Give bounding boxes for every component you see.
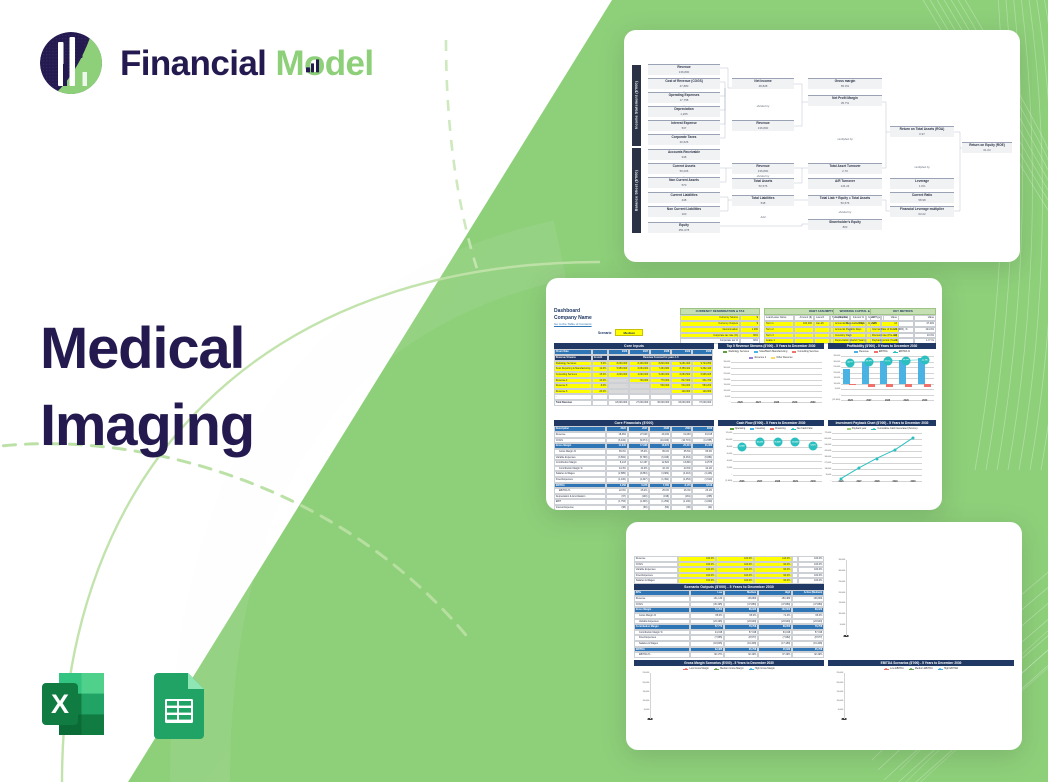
y-axis-tick-label: 10,000 (839, 613, 847, 615)
slide-canvas: Financial Model Medical Imaging X (0, 0, 1048, 782)
x-axis-tick-label: 2030 (843, 636, 848, 638)
y-axis-tick-label: 30,000 (839, 570, 847, 572)
brand-wordmark: Financial Model (120, 46, 374, 81)
x-axis-tick-label: 2026 (848, 400, 853, 402)
y-axis-tick-label: 20,000 (837, 682, 845, 684)
data-point (840, 477, 843, 480)
chart-legend: Payback year Cumulative Cash Generated (… (828, 426, 936, 430)
y-axis-tick-label: 10,000 (643, 700, 651, 702)
y-axis-tick-label: 15,000 (837, 691, 845, 693)
chart-legend: Revenue EBITDA EBITDA % (828, 349, 936, 353)
chart-investment-payback[interactable]: Investment Payback Chart ($'000) - 5 Yea… (828, 420, 936, 481)
y-axis-tick-label: 15,000 (834, 377, 842, 379)
table-row-label: Interest Expense (554, 505, 606, 510)
y-axis-tick-label: 20,000 (724, 379, 732, 381)
y-axis-tick-label: 15,000 (643, 691, 651, 693)
x-axis-tick-label: 2030 (922, 400, 927, 402)
data-label-bubble: 6,971 (809, 441, 818, 450)
x-axis-tick-label: 2030 (841, 719, 846, 721)
y-axis-tick-label: 36,000 (825, 456, 833, 458)
data-point (858, 467, 861, 470)
page-title-line1: Medical (40, 310, 254, 387)
y-axis-tick-label: 10,000 (726, 439, 734, 441)
dashboard-heading: Dashboard Company Name Go to the Table o… (554, 308, 592, 326)
chart-legend: Low Gross Margin Medium Gross Margin Hig… (634, 666, 824, 670)
y-axis-tick-label: 27,000 (825, 462, 833, 464)
panel-key-metrics: KEY METRICS KPIValue NPV47,481 Internal … (870, 308, 936, 344)
y-axis-tick-label: 25,000 (837, 672, 845, 674)
y-axis-tick-label: 35,000 (834, 355, 842, 357)
table-cell: (36) (671, 505, 693, 510)
dupont-analysis-preview-card[interactable]: Income Statement ($'000) Balance Sheet (… (624, 30, 1020, 262)
x-axis-tick-label: 2028 (874, 481, 879, 483)
x-axis-tick-label: 2030 (810, 402, 815, 404)
y-axis-tick-label: 72,000 (825, 432, 833, 434)
chart-cash-flow[interactable]: Cash Flow ($'000) - 5 Years to December … (718, 420, 824, 481)
data-label-bubble: 15,230 (755, 438, 764, 447)
data-label-bubble: 4,148 (737, 442, 746, 451)
table-of-contents-link[interactable]: Go to the Table of Contents (554, 322, 592, 327)
ebitda-percent-line (841, 356, 934, 400)
x-axis-tick-label: 2027 (866, 400, 871, 402)
data-point (876, 457, 879, 460)
dashboard-sheet: Dashboard Company Name Go to the Table o… (552, 308, 936, 488)
table-cell: (98) (606, 505, 628, 510)
table-core-financials: Core Financials ($'000) Description20262… (554, 420, 714, 510)
y-axis-tick-label: (15,000) (832, 399, 841, 401)
y-axis-tick-label: 20,000 (839, 592, 847, 594)
y-axis-tick-label: 15,000 (839, 602, 847, 604)
microsoft-excel-icon[interactable]: X (34, 665, 112, 743)
y-axis-tick-label: 54,000 (825, 444, 833, 446)
x-axis-tick-label: 2030 (811, 481, 816, 483)
x-axis-tick-label: 2028 (885, 400, 890, 402)
y-axis-tick-label: 10,000 (724, 390, 732, 392)
brand-name-part1: Financial (120, 44, 266, 83)
scenario-dropdown[interactable]: Medium (615, 329, 643, 336)
chart-legend: Low EBITDA Medium EBITDA High EBITDA (828, 666, 1014, 670)
table-core-inputs: Core Inputs Churn Rate 2026 2027 2028 20… (554, 343, 714, 406)
table-cell: EBITDA % (634, 652, 690, 658)
x-axis-tick-label: 2026 (739, 481, 744, 483)
x-axis-tick-label: 2029 (792, 402, 797, 404)
chart-legend: Radiology Services Scan/Batch Manufactur… (718, 349, 824, 359)
table-cell: 30.17% (690, 652, 724, 658)
y-axis-tick-label: 15,000 (724, 384, 732, 386)
y-axis-tick-label: 60,000 (825, 438, 833, 440)
x-axis-tick-label: 2030 (647, 719, 652, 721)
x-axis-tick-label: 2029 (793, 481, 798, 483)
table-cell: (66) (628, 505, 650, 510)
page-title: Medical Imaging (40, 310, 254, 464)
y-axis-tick-label: 20,000 (643, 682, 651, 684)
y-axis-tick-label: 25,000 (643, 672, 651, 674)
table-cell: (24) (692, 505, 714, 510)
scenario-selector[interactable]: Scenario Medium (598, 329, 643, 336)
y-axis-tick-label: 25,000 (839, 581, 847, 583)
bar-chart-glyph-icon (306, 57, 322, 72)
file-format-icons: X (34, 665, 218, 743)
y-axis-tick-label: 18,000 (825, 468, 833, 470)
y-axis-tick-label: 12,000 (726, 432, 734, 434)
x-axis-tick-label: 2027 (756, 402, 761, 404)
x-axis-tick-label: 2030 (910, 481, 915, 483)
table-scenario-outputs: Scenario Outputs ($'000) - 5 Years to De… (634, 584, 824, 658)
google-sheets-icon[interactable] (140, 665, 218, 743)
scenario-analysis-preview-card[interactable]: Revenue100.0%100.0%110.0%100.0%COGS100.0… (626, 522, 1022, 750)
y-axis-tick-label: 30,000 (834, 361, 842, 363)
y-axis-tick-label: 45,000 (825, 450, 833, 452)
x-axis-tick-label: 2026 (838, 481, 843, 483)
chart-legend: Operating Investing Financing Net Cash F… (718, 426, 824, 430)
data-point (894, 449, 897, 452)
x-axis-tick-label: 2028 (775, 481, 780, 483)
dupont-connectors (632, 64, 1012, 234)
dupont-diagram: Income Statement ($'000) Balance Sheet (… (632, 64, 1012, 234)
panel-currency-tax: CURRENCY DENOMINATION & TAX Currency Sou… (680, 308, 760, 344)
chart-profitability[interactable]: Profitability ($'000) - 5 Years to Decem… (828, 343, 936, 400)
data-label-bubble: 11,400 (773, 438, 782, 447)
brand-logo[interactable]: Financial Model (36, 28, 374, 98)
data-point (912, 437, 915, 440)
page-title-line2: Imaging (40, 387, 254, 464)
table-cell: 32.19% (792, 652, 824, 658)
table-scenario-percentages: Revenue100.0%100.0%110.0%100.0%COGS100.0… (634, 556, 824, 584)
x-axis-tick-label: 2029 (892, 481, 897, 483)
x-axis-tick-label: 2027 (856, 481, 861, 483)
data-label-bubble: 18,190 (791, 438, 800, 447)
svg-text:X: X (51, 689, 69, 719)
x-axis-tick-label: 2026 (738, 402, 743, 404)
chart-gross-margin-scenarios[interactable]: Gross Margin Scenarios ($'000) - 5 Years… (634, 660, 824, 670)
dashboard-preview-card[interactable]: Dashboard Company Name Go to the Table o… (546, 278, 942, 510)
table-cell: 37.19% (758, 652, 792, 658)
y-axis-tick-label: 25,000 (724, 373, 732, 375)
scenario-sheet: Revenue100.0%100.0%110.0%100.0%COGS100.0… (632, 556, 1016, 722)
y-axis-tick-label: 20,000 (834, 372, 842, 374)
x-axis-tick-label: 2028 (774, 402, 779, 404)
table-cell: 32.19% (724, 652, 758, 658)
y-axis-tick-label: 10,000 (834, 383, 842, 385)
x-axis-tick-label: 2029 (904, 400, 909, 402)
x-axis-tick-label: 2027 (757, 481, 762, 483)
y-axis-tick-label: (2,000) (725, 480, 733, 482)
y-axis-tick-label: 35,000 (724, 361, 732, 363)
chart-ebitda-scenarios[interactable]: EBITDA Scenarios ($'000) - 5 Years to De… (828, 660, 1014, 670)
y-axis-tick-label: 25,000 (834, 366, 842, 368)
financial-model-circle-logo (36, 28, 106, 98)
chart-top-5-revenue-streams[interactable]: Top 5 Revenue Streams ($'000) - 5 Years … (718, 343, 824, 402)
y-axis-tick-label: 35,000 (839, 559, 847, 561)
y-axis-tick-label: 10,000 (837, 700, 845, 702)
y-axis-tick-label: 30,000 (724, 367, 732, 369)
table-cell: (50) (649, 505, 671, 510)
brand-name-part2: Model (275, 44, 373, 83)
